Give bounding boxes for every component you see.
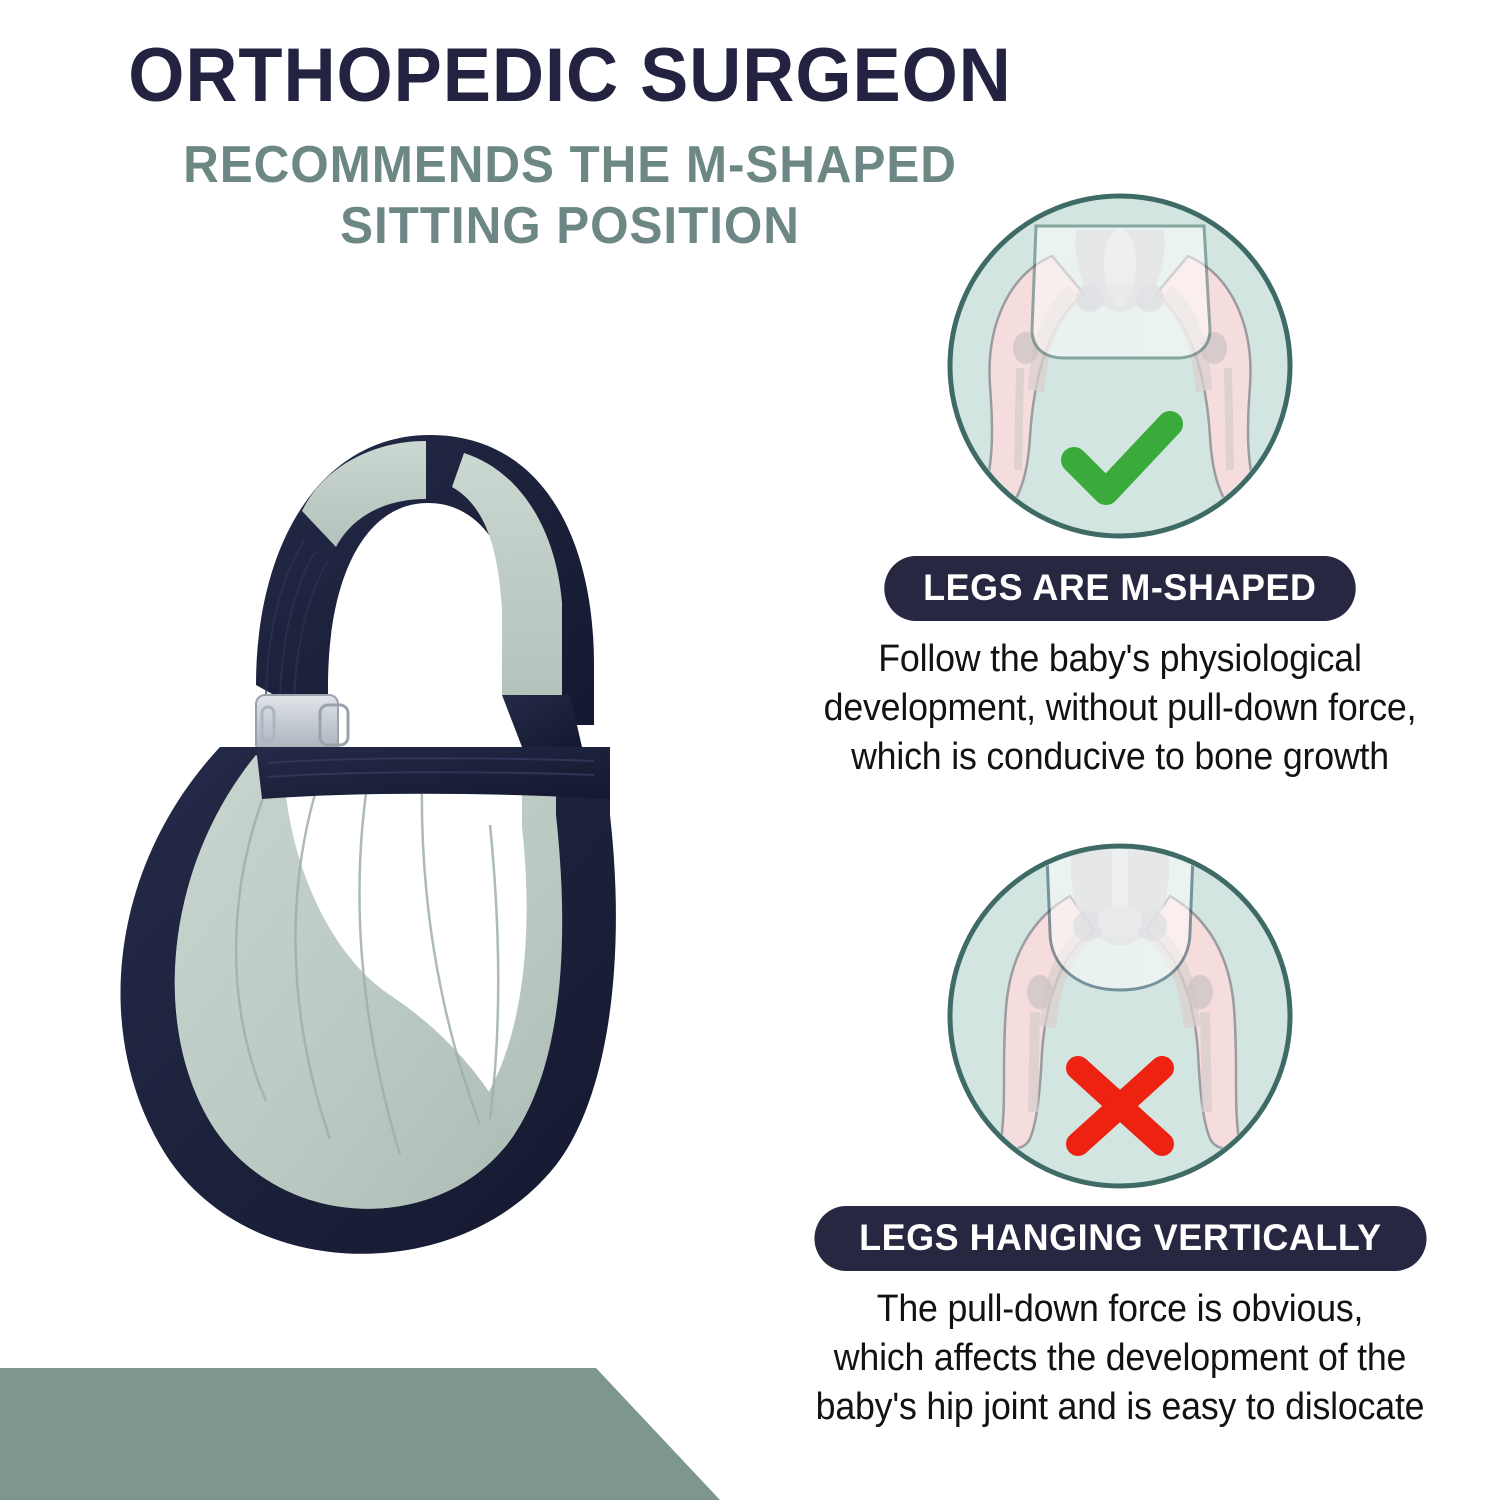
carrier-seat-panel	[1032, 226, 1210, 358]
infographic-canvas: ORTHOPEDIC SURGEON RECOMMENDS THE M-SHAP…	[0, 0, 1500, 1500]
badge-m-shaped: LEGS ARE M-SHAPED	[884, 556, 1355, 621]
description-vertical: The pull-down force is obvious, which af…	[782, 1285, 1459, 1432]
buckle-left	[256, 695, 348, 753]
page-subtitle-line-1: RECOMMENDS THE M-SHAPED	[29, 135, 1112, 196]
badge-vertical: LEGS HANGING VERTICALLY	[814, 1206, 1426, 1271]
description-vertical-line-3: baby's hip joint and is easy to dislocat…	[782, 1383, 1459, 1432]
carrier-seat-panel-narrow	[1046, 840, 1194, 990]
right-tibia	[1200, 1012, 1212, 1112]
panel-vertical: LEGS HANGING VERTICALLY The pull-down fo…	[760, 840, 1480, 1432]
description-vertical-line-2: which affects the development of the	[782, 1334, 1459, 1383]
illustration-vertical	[944, 840, 1296, 1192]
description-m-shaped: Follow the baby's physiological developm…	[782, 635, 1459, 782]
description-m-shaped-line-3: which is conducive to bone growth	[782, 733, 1459, 782]
description-m-shaped-line-1: Follow the baby's physiological	[782, 635, 1459, 684]
description-vertical-line-1: The pull-down force is obvious,	[782, 1285, 1459, 1334]
description-m-shaped-line-2: development, without pull-down force,	[782, 684, 1459, 733]
left-knee-joint	[1027, 975, 1053, 1009]
pouch-front-panel	[175, 755, 514, 1209]
page-title: ORTHOPEDIC SURGEON	[29, 38, 1112, 114]
baby-carrier-sling-illustration	[70, 395, 750, 1265]
m-shaped-hip-diagram	[944, 190, 1296, 542]
vertical-hip-diagram	[944, 840, 1296, 1192]
right-knee-joint	[1187, 975, 1213, 1009]
panel-m-shaped: LEGS ARE M-SHAPED Follow the baby's phys…	[760, 190, 1480, 782]
illustration-m-shaped	[944, 190, 1296, 542]
strap-sage-panel-right	[452, 453, 562, 695]
product-image	[70, 395, 750, 1265]
corner-accent-shape	[0, 1368, 720, 1500]
left-tibia	[1028, 1012, 1040, 1112]
right-strap-lower	[502, 695, 582, 747]
